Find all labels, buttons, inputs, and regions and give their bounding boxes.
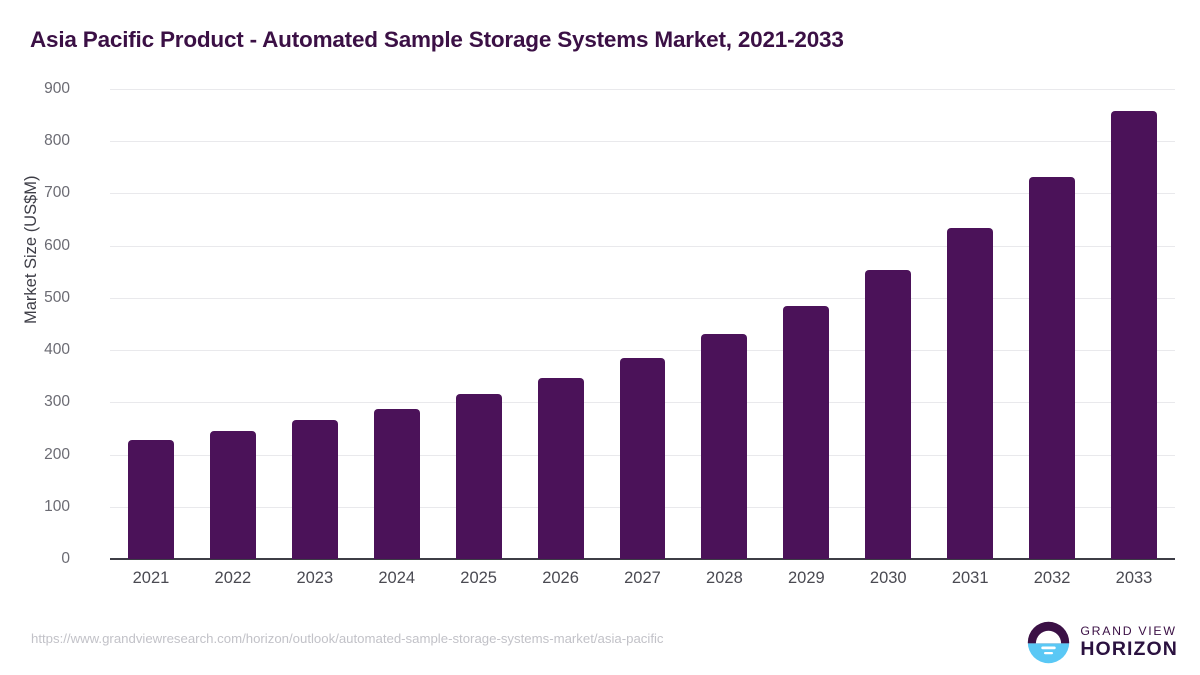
- logo-line-2: HORIZON: [1080, 639, 1178, 659]
- x-axis-tick-label: 2024: [356, 569, 438, 588]
- x-axis-tick-label: 2025: [438, 569, 520, 588]
- bar[interactable]: [620, 358, 666, 559]
- y-axis-tick-label: 700: [10, 184, 70, 202]
- x-axis-tick-label: 2032: [1011, 569, 1093, 588]
- bar-group: 2024: [356, 89, 438, 559]
- page-title: Asia Pacific Product - Automated Sample …: [30, 27, 844, 53]
- x-axis-tick-label: 2021: [110, 569, 192, 588]
- logo-wordmark: GRAND VIEW HORIZON: [1080, 624, 1178, 660]
- y-axis-tick-label: 600: [10, 237, 70, 255]
- chart-page: Asia Pacific Product - Automated Sample …: [0, 0, 1200, 675]
- x-axis-tick-label: 2027: [602, 569, 684, 588]
- bar[interactable]: [538, 378, 584, 559]
- bar[interactable]: [865, 270, 911, 559]
- x-axis-tick-label: 2029: [765, 569, 847, 588]
- y-axis-tick-label: 500: [10, 289, 70, 307]
- horizon-sun-icon: [1026, 620, 1071, 665]
- bar-group: 2029: [765, 89, 847, 559]
- y-axis-tick-label: 300: [10, 393, 70, 411]
- logo-line-1: GRAND VIEW: [1080, 624, 1178, 639]
- bar-group: 2030: [847, 89, 929, 559]
- bar[interactable]: [783, 306, 829, 559]
- bar[interactable]: [374, 409, 420, 559]
- bar[interactable]: [701, 334, 747, 559]
- x-axis-tick-label: 2022: [192, 569, 274, 588]
- y-axis-tick-label: 200: [10, 446, 70, 464]
- bar-group: 2028: [683, 89, 765, 559]
- bar-series: 2021202220232024202520262027202820292030…: [110, 89, 1175, 559]
- y-axis-tick-label: 800: [10, 132, 70, 150]
- grand-view-horizon-logo: GRAND VIEW HORIZON: [1026, 618, 1178, 666]
- x-axis-tick-label: 2030: [847, 569, 929, 588]
- bar-group: 2021: [110, 89, 192, 559]
- bar-group: 2025: [438, 89, 520, 559]
- bar[interactable]: [947, 228, 993, 559]
- x-axis-tick-label: 2033: [1093, 569, 1175, 588]
- bar[interactable]: [1111, 111, 1157, 559]
- bar[interactable]: [1029, 177, 1075, 559]
- source-url: https://www.grandviewresearch.com/horizo…: [31, 631, 664, 646]
- y-axis-tick-label: 400: [10, 341, 70, 359]
- bar-group: 2027: [602, 89, 684, 559]
- bar-group: 2022: [192, 89, 274, 559]
- bar-group: 2033: [1093, 89, 1175, 559]
- x-axis-tick-label: 2023: [274, 569, 356, 588]
- bar-group: 2023: [274, 89, 356, 559]
- bar-group: 2031: [929, 89, 1011, 559]
- y-axis-tick-label: 900: [10, 80, 70, 98]
- y-axis-tick-label: 0: [10, 550, 70, 568]
- bar[interactable]: [292, 420, 338, 559]
- y-axis-tick-label: 100: [10, 498, 70, 516]
- x-axis-tick-label: 2026: [520, 569, 602, 588]
- x-axis-tick-label: 2031: [929, 569, 1011, 588]
- bar[interactable]: [456, 394, 502, 559]
- bar[interactable]: [210, 431, 256, 559]
- bar[interactable]: [128, 440, 174, 559]
- bar-group: 2032: [1011, 89, 1093, 559]
- bar-group: 2026: [520, 89, 602, 559]
- plot-area: 0100200300400500600700800900 20212022202…: [110, 89, 1175, 559]
- x-axis-tick-label: 2028: [683, 569, 765, 588]
